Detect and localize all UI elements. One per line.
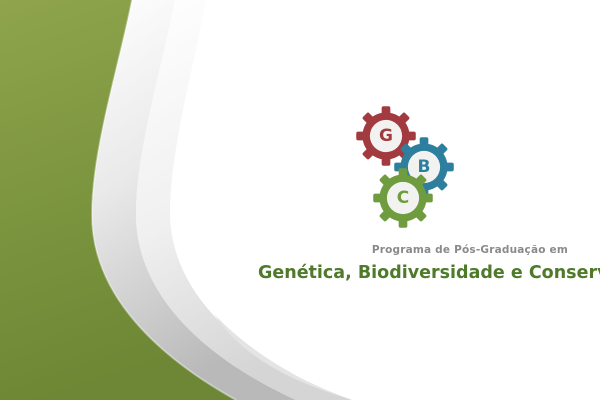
slide-canvas: G B <box>0 0 600 400</box>
gear-c-letter: C <box>372 167 434 229</box>
background-graphic <box>0 0 600 400</box>
program-title: Genética, Biodiversidade e Conservação <box>258 261 568 285</box>
gear-c: C <box>372 167 434 229</box>
title-block: Programa de Pós-Graduação em Genética, B… <box>258 243 568 285</box>
logo: G B <box>355 105 465 230</box>
program-pre-title: Programa de Pós-Graduação em <box>258 243 568 257</box>
